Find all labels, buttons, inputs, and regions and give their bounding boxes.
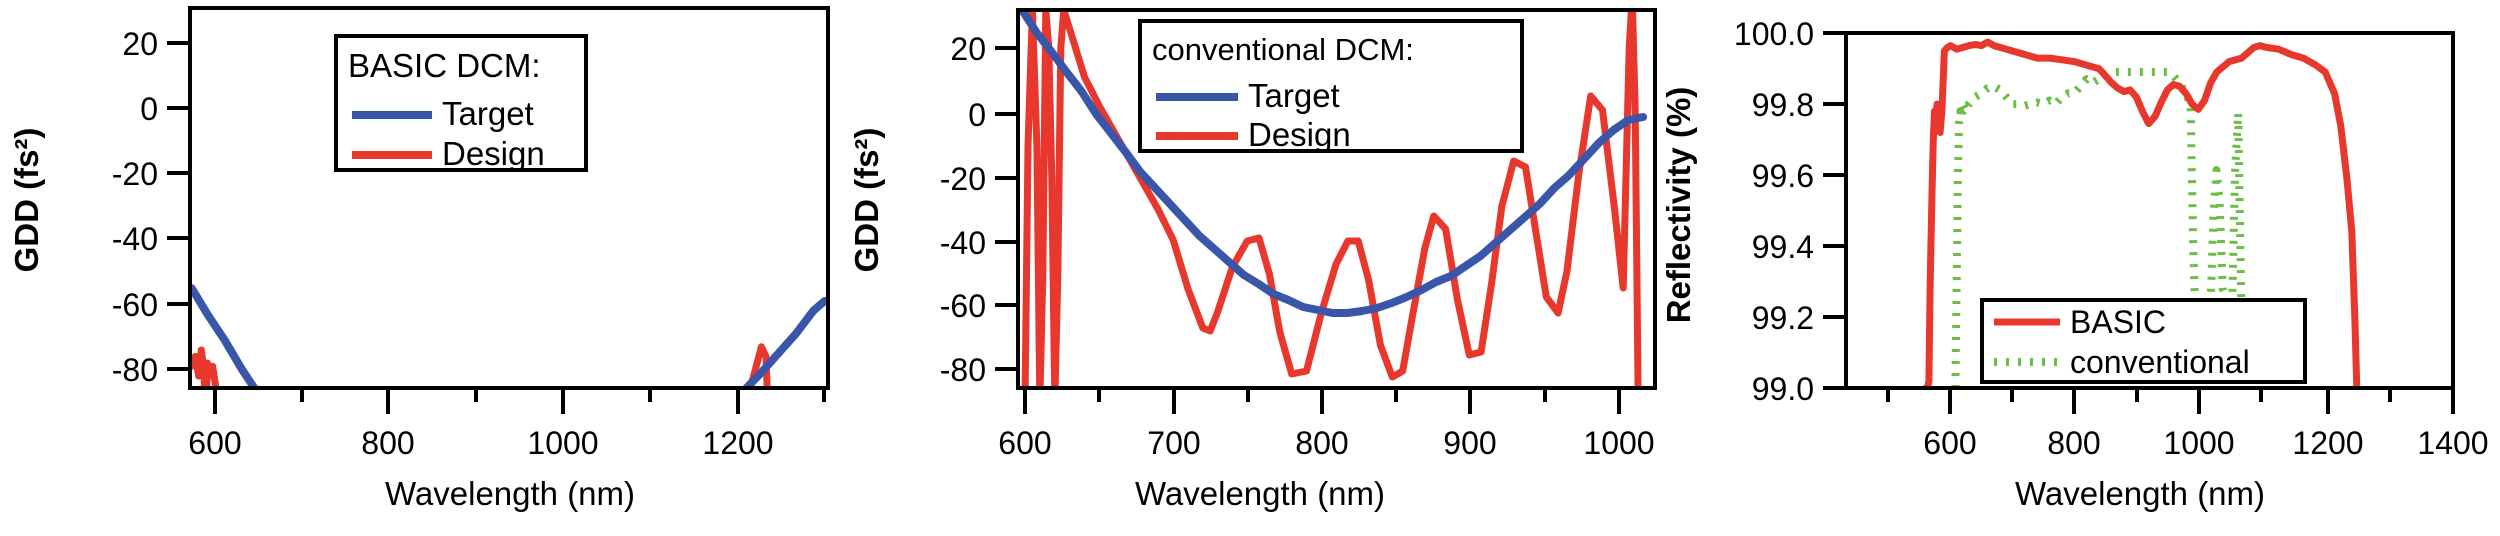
panel-2-xtick-800: 800: [1295, 425, 1348, 461]
panel-1-xtick-1000: 1000: [527, 425, 598, 461]
panel-1-ytick-m20: -20: [112, 156, 158, 192]
panel-3-legend-label-basic: BASIC: [2070, 304, 2166, 340]
panel-1-ytick-m40: -40: [112, 221, 158, 257]
panel-2-xtick-700: 700: [1147, 425, 1200, 461]
chart-panel-3: Reflectivity (%) Wavelength (nm) 100.0 9…: [1660, 0, 2500, 536]
chart-panel-1: GDD (fs²) Wavelength (nm) 20 0 -20 -40 -…: [0, 0, 840, 536]
panel-1-legend-title: BASIC DCM:: [348, 47, 541, 84]
panel-2-x-ticks: [1025, 388, 1619, 414]
panel-3-legend-label-conventional: conventional: [2070, 344, 2250, 380]
panel-1-svg: GDD (fs²) Wavelength (nm) 20 0 -20 -40 -…: [0, 0, 840, 536]
panel-2-ytick-m60: -60: [940, 288, 986, 324]
panel-1-x-ticks: [215, 388, 824, 414]
panel-1-ytick-m80: -80: [112, 352, 158, 388]
panel-2-y-ticks: [995, 48, 1018, 369]
panel-3-ylabel: Reflectivity (%): [1660, 87, 1697, 324]
panel-3-ytick-998: 99.8: [1752, 87, 1814, 123]
panel-2-ytick-20: 20: [950, 31, 986, 67]
panel-3-xlabel: Wavelength (nm): [2015, 475, 2265, 512]
panel-2-legend-title: conventional DCM:: [1152, 32, 1414, 67]
panel-3-xtick-1000: 1000: [2163, 425, 2234, 461]
panel-3-ytick-992: 99.2: [1752, 300, 1814, 336]
panel-2-ytick-0: 0: [968, 97, 986, 133]
panel-2-y-ticklabels: 20 0 -20 -40 -60 -80: [940, 31, 986, 388]
panel-2-legend-label-design: Design: [1248, 116, 1351, 153]
panel-2-legend-label-target: Target: [1248, 77, 1340, 114]
panel-2-xtick-1000: 1000: [1583, 425, 1654, 461]
panel-2-ytick-m20: -20: [940, 161, 986, 197]
panel-3-y-ticklabels: 100.0 99.8 99.6 99.4 99.2 99.0: [1734, 16, 1814, 407]
panel-2-xlabel: Wavelength (nm): [1135, 475, 1385, 512]
panel-1-y-ticklabels: 20 0 -20 -40 -60 -80: [112, 26, 158, 388]
panel-1-xtick-800: 800: [361, 425, 414, 461]
panel-3-svg: Reflectivity (%) Wavelength (nm) 100.0 9…: [1660, 0, 2500, 536]
chart-panel-2: GDD (fs²) Wavelength (nm) 20 0 -20 -40 -…: [840, 0, 1680, 536]
panel-2-xtick-900: 900: [1443, 425, 1496, 461]
panel-3-y-ticks: [1823, 33, 1846, 388]
panel-2-x-ticklabels: 600 700 800 900 1000: [998, 425, 1654, 461]
panel-3-ytick-990: 99.0: [1752, 371, 1814, 407]
panel-3-xtick-800: 800: [2047, 425, 2100, 461]
panel-1-ytick-20: 20: [122, 26, 158, 62]
panel-2-svg: GDD (fs²) Wavelength (nm) 20 0 -20 -40 -…: [840, 0, 1680, 536]
panel-3-xtick-1200: 1200: [2292, 425, 2363, 461]
panel-3-xtick-1400: 1400: [2417, 425, 2488, 461]
panel-3-xtick-600: 600: [1923, 425, 1976, 461]
figure-root: GDD (fs²) Wavelength (nm) 20 0 -20 -40 -…: [0, 0, 2500, 536]
panel-1-legend: BASIC DCM: Target Design: [336, 36, 586, 172]
panel-1-xtick-1200: 1200: [702, 425, 773, 461]
panel-1-ytick-0: 0: [140, 91, 158, 127]
panel-3-ytick-994: 99.4: [1752, 229, 1814, 265]
panel-1-y-ticks: [167, 43, 190, 369]
panel-3-ytick-1000: 100.0: [1734, 16, 1814, 52]
panel-1-xlabel: Wavelength (nm): [385, 475, 635, 512]
panel-1-x-ticklabels: 600 800 1000 1200: [188, 425, 773, 461]
panel-2-xtick-600: 600: [998, 425, 1051, 461]
panel-3-x-ticks: [1888, 388, 2453, 414]
panel-1-ylabel: GDD (fs²): [8, 128, 45, 273]
panel-3-x-ticklabels: 600 800 1000 1200 1400: [1923, 425, 2488, 461]
panel-2-ytick-m80: -80: [940, 352, 986, 388]
panel-1-legend-label-design: Design: [442, 135, 545, 172]
panel-2-ytick-m40: -40: [940, 225, 986, 261]
panel-1-legend-label-target: Target: [442, 95, 534, 132]
panel-3-ytick-996: 99.6: [1752, 158, 1814, 194]
panel-2-ylabel: GDD (fs²): [848, 128, 885, 273]
panel-2-legend: conventional DCM: Target Design: [1140, 21, 1522, 153]
panel-1-xtick-600: 600: [188, 425, 241, 461]
panel-1-ytick-m60: -60: [112, 287, 158, 323]
panel-3-legend: BASIC conventional: [1982, 300, 2305, 382]
